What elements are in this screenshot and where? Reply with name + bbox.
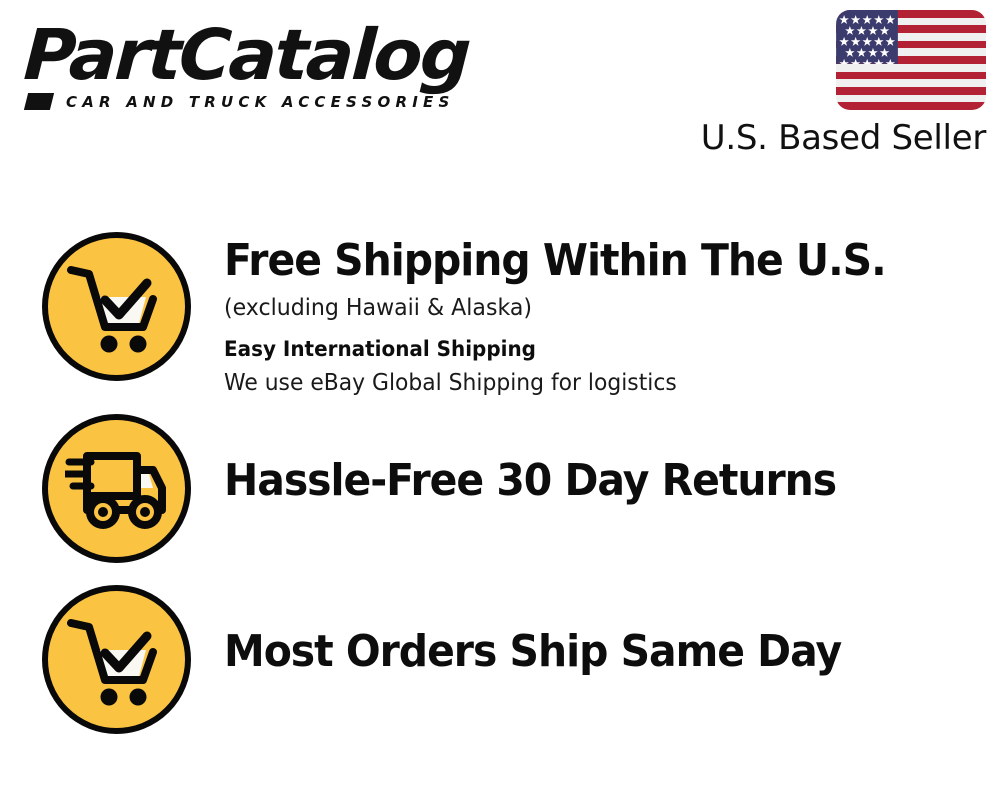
feature-note: (excluding Hawaii & Alaska)	[224, 294, 969, 323]
brand-logo[interactable]: PartCatalog CAR AND TRUCK ACCESSORIES	[24, 22, 494, 111]
us-flag-icon	[836, 10, 986, 110]
feature-heading: Hassle-Free 30 Day Returns	[224, 458, 946, 505]
shopping-cart-check-icon	[42, 232, 191, 381]
feature-heading: Most Orders Ship Same Day	[224, 629, 946, 676]
logo-slab-mark-icon	[24, 93, 54, 110]
feature-row: Most Orders Ship Same Day	[0, 585, 1000, 734]
seller-badge: U.S. Based Seller	[701, 10, 986, 157]
feature-sub-title: Easy International Shipping	[224, 337, 961, 362]
shopping-cart-check-icon	[42, 585, 191, 734]
feature-sub-note: We use eBay Global Shipping for logistic…	[224, 369, 961, 398]
feature-row: Hassle-Free 30 Day Returns	[0, 414, 1000, 563]
brand-wordmark: PartCatalog	[22, 22, 505, 89]
flag-canton-icon	[836, 10, 898, 64]
feature-row: Free Shipping Within The U.S. (excluding…	[0, 232, 1000, 397]
feature-text-block: Free Shipping Within The U.S. (excluding…	[191, 232, 1000, 397]
page-header: PartCatalog CAR AND TRUCK ACCESSORIES	[0, 0, 1000, 180]
feature-text-block: Hassle-Free 30 Day Returns	[191, 414, 1000, 505]
seller-label: U.S. Based Seller	[701, 120, 986, 157]
delivery-truck-icon	[42, 414, 191, 563]
feature-text-block: Most Orders Ship Same Day	[191, 585, 1000, 676]
feature-heading: Free Shipping Within The U.S.	[224, 238, 946, 285]
